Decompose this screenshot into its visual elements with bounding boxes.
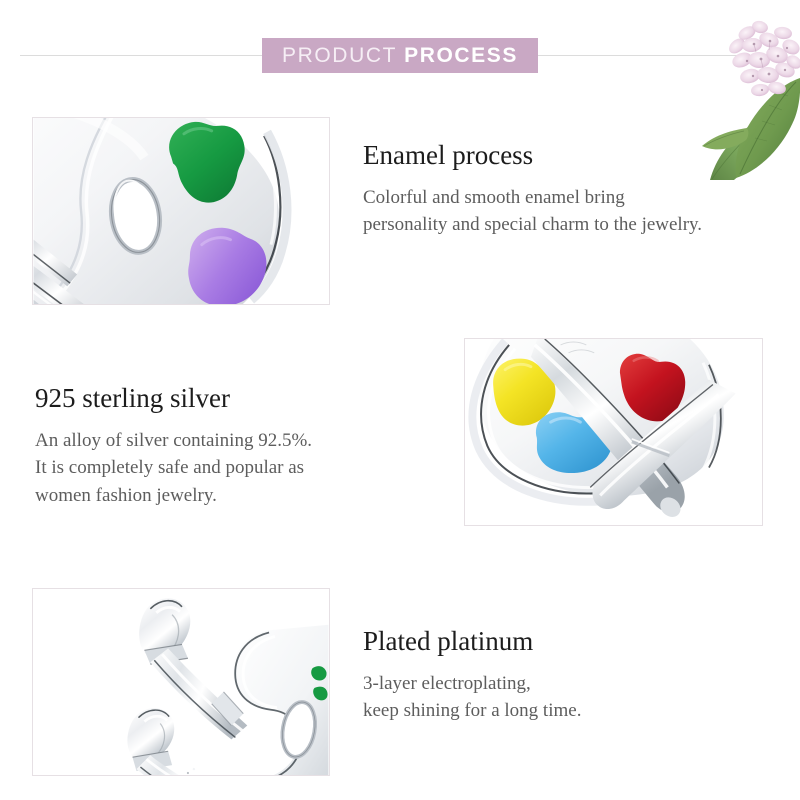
feature-body-line: It is completely safe and popular as: [35, 454, 435, 482]
feature-image-platinum: [32, 588, 330, 776]
feature-body-line: An alloy of silver containing 92.5%.: [35, 427, 435, 455]
feature-heading-enamel: Enamel process: [363, 140, 793, 172]
feature-body-line: 3-layer electroplating,: [363, 670, 763, 698]
feature-body-silver: An alloy of silver containing 92.5%. It …: [35, 427, 435, 510]
feature-image-silver: [464, 338, 763, 526]
page-title-bold: PROCESS: [404, 44, 518, 68]
feature-body-platinum: 3-layer electroplating, keep shining for…: [363, 670, 763, 725]
page-title-banner: PRODUCT PROCESS: [262, 38, 538, 73]
page-title-thin: PRODUCT: [282, 44, 404, 68]
feature-body-line: personality and special charm to the jew…: [363, 211, 793, 239]
feature-body-line: keep shining for a long time.: [363, 697, 763, 725]
feature-text-silver: 925 sterling silver An alloy of silver c…: [35, 383, 435, 510]
feature-body-line: women fashion jewelry.: [35, 482, 435, 510]
feature-body-enamel: Colorful and smooth enamel bring persona…: [363, 184, 793, 239]
feature-image-enamel: [32, 117, 330, 305]
feature-text-platinum: Plated platinum 3-layer electroplating, …: [363, 626, 763, 725]
feature-body-line: Colorful and smooth enamel bring: [363, 184, 793, 212]
feature-heading-silver: 925 sterling silver: [35, 383, 435, 415]
feature-text-enamel: Enamel process Colorful and smooth ename…: [363, 140, 793, 239]
feature-heading-platinum: Plated platinum: [363, 626, 763, 658]
